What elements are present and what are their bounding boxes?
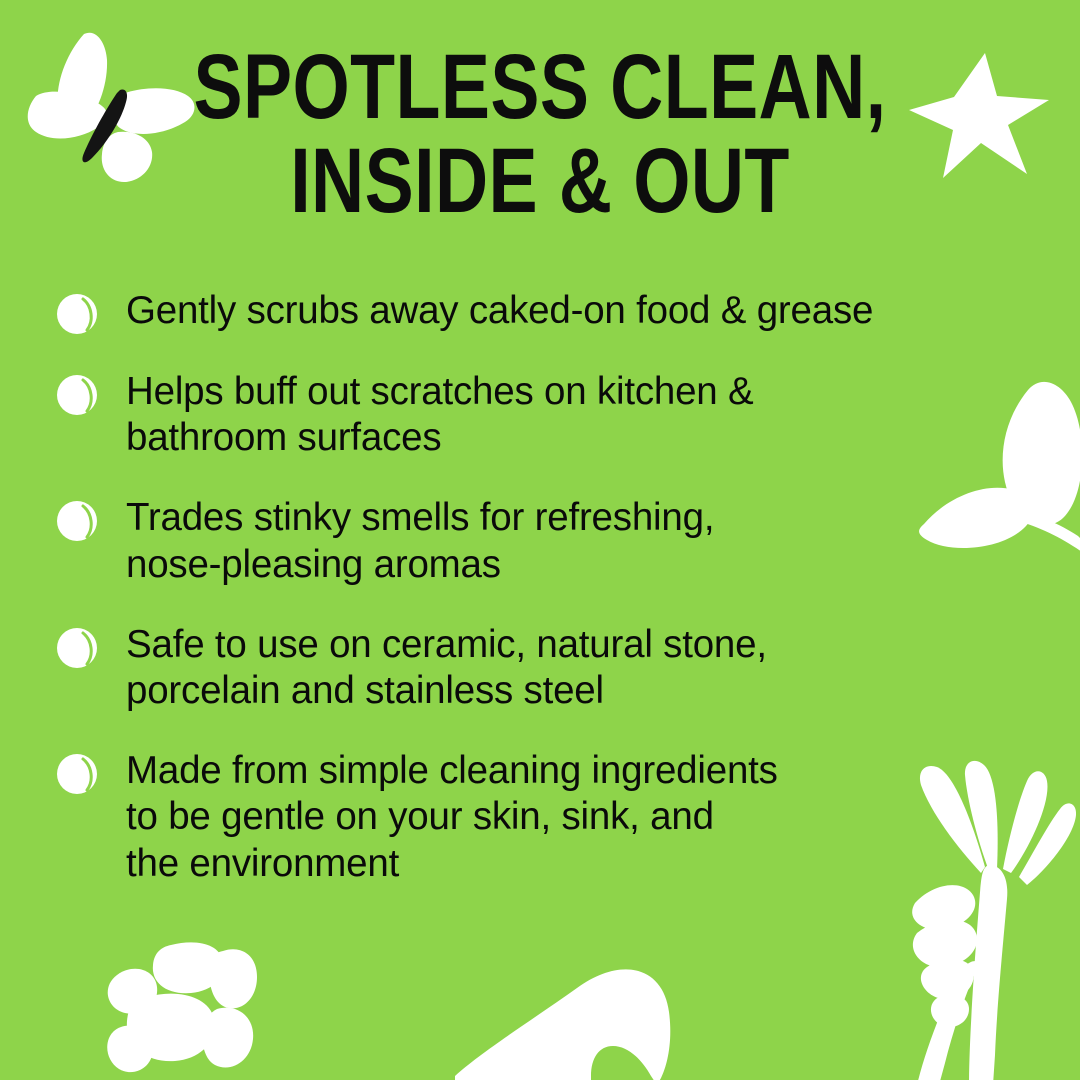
list-item: Gently scrubs away caked-on food & greas… <box>56 288 956 335</box>
benefit-text: Trades stinky smells for refreshing, nos… <box>126 495 956 587</box>
leaf-bullet-icon <box>56 500 98 542</box>
leaf-bullet-icon <box>56 627 98 669</box>
wave-icon <box>455 960 785 1080</box>
benefit-text: Made from simple cleaning ingredients to… <box>126 748 956 887</box>
clover-flower-icon <box>95 935 270 1080</box>
benefit-text: Safe to use on ceramic, natural stone, p… <box>126 622 956 714</box>
leaf-bullet-icon <box>56 374 98 416</box>
page-title: SPOTLESS CLEAN, INSIDE & OUT <box>108 42 972 226</box>
benefit-text: Helps buff out scratches on kitchen & ba… <box>126 369 956 461</box>
benefits-list: Gently scrubs away caked-on food & greas… <box>56 288 956 887</box>
leaf-bullet-icon <box>56 293 98 335</box>
poster-canvas: SPOTLESS CLEAN, INSIDE & OUT Gently scru… <box>0 0 1080 1080</box>
list-item: Helps buff out scratches on kitchen & ba… <box>56 369 956 461</box>
benefit-text: Gently scrubs away caked-on food & greas… <box>126 288 956 334</box>
leaf-bullet-icon <box>56 753 98 795</box>
list-item: Made from simple cleaning ingredients to… <box>56 748 956 887</box>
headline-line-1: SPOTLESS CLEAN, <box>108 42 972 132</box>
list-item: Safe to use on ceramic, natural stone, p… <box>56 622 956 714</box>
list-item: Trades stinky smells for refreshing, nos… <box>56 495 956 587</box>
headline-line-2: INSIDE & OUT <box>108 136 972 226</box>
